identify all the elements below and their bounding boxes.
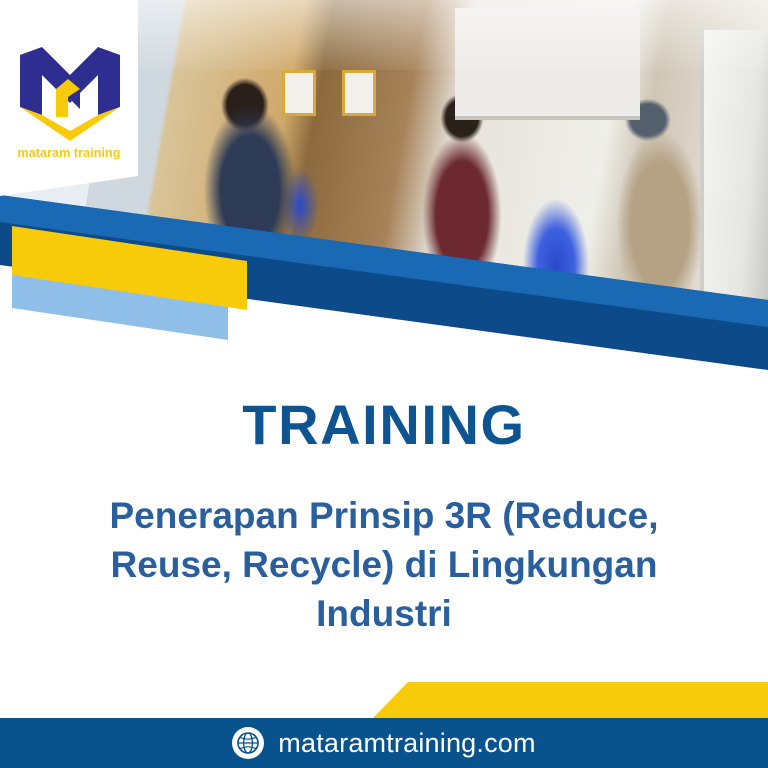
globe-icon-glyph bbox=[236, 731, 260, 755]
footer-content: mataramtraining.com bbox=[0, 718, 768, 768]
globe-icon bbox=[232, 727, 264, 759]
course-subtitle: Penerapan Prinsip 3R (Reduce, Reuse, Rec… bbox=[64, 492, 704, 638]
footer-yellow-accent bbox=[0, 660, 768, 720]
training-poster: mataram training TRAINING Penerapan Prin… bbox=[0, 0, 768, 768]
wall-portrait-left bbox=[282, 70, 316, 116]
page-title: TRAINING bbox=[0, 392, 768, 457]
wall-portrait-right bbox=[342, 70, 376, 116]
logo-panel: mataram training bbox=[0, 0, 138, 200]
website-url[interactable]: mataramtraining.com bbox=[278, 728, 535, 759]
mataram-m-logo-icon bbox=[18, 45, 122, 141]
logo-wordmark: mataram training bbox=[0, 146, 138, 160]
